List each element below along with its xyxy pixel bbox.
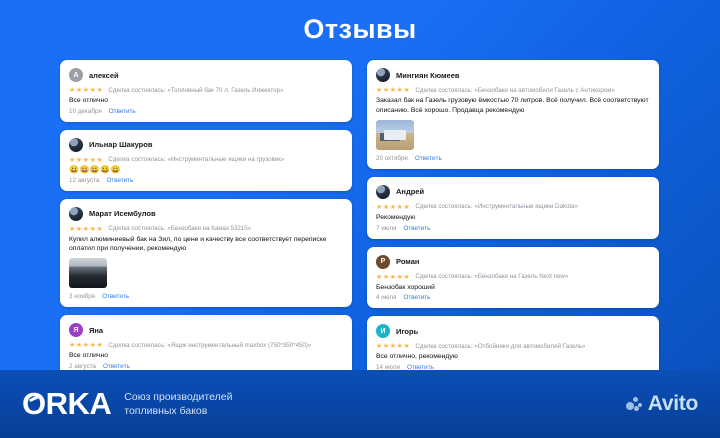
review-card: РРоман★★★★★Сделка состоялась: «Бензобаки… [367, 247, 659, 309]
review-emoji: 😀😀😀😀😀 [69, 166, 343, 175]
review-author-row: Андрей [376, 185, 650, 199]
review-date: 7 июля [376, 225, 396, 232]
reply-button[interactable]: Ответить [403, 294, 430, 301]
review-date: 12 августа [69, 177, 99, 184]
rating-stars: ★★★★★ [376, 203, 410, 211]
review-text: Рекомендую [376, 213, 650, 223]
review-author-row: ЯЯна [69, 323, 343, 337]
review-date: 10 декабря [69, 108, 102, 115]
page-header: Отзывы [0, 0, 720, 58]
reviews-column-left: Аалексей★★★★★Сделка состоялась: «Топливн… [60, 60, 352, 378]
reply-button[interactable]: Ответить [415, 155, 442, 162]
review-card: Ильнар Шакуров★★★★★Сделка состоялась: «И… [60, 130, 352, 191]
reply-button[interactable]: Ответить [109, 108, 136, 115]
reply-button[interactable]: Ответить [106, 177, 133, 184]
review-card: Мингиян Кюмеев★★★★★Сделка состоялась: «Б… [367, 60, 659, 169]
author-name: Роман [396, 257, 419, 266]
deal-item: «Топливный бак 70 л. Газель Инжектор» [167, 87, 283, 94]
review-text: Все отлично, рекомендую [376, 352, 650, 362]
deal-info: Сделка состоялась: «Бензобаки на автомоб… [415, 87, 615, 94]
avatar: Я [69, 323, 83, 337]
deal-info: Сделка состоялась: «Бензобаки на Газель … [415, 273, 568, 280]
tagline-line-2: топливных баков [124, 404, 232, 418]
deal-item: «Инструментальные ящики на грузовик» [167, 156, 284, 163]
review-meta: ★★★★★Сделка состоялась: «Бензобаки на Га… [376, 273, 650, 281]
deal-item: «Бензобаки на автомобили Газель с Антико… [474, 87, 615, 94]
avatar [376, 185, 390, 199]
rating-stars: ★★★★★ [376, 273, 410, 281]
logo-slash-mark [29, 395, 40, 402]
review-text: Купил алюминиевый бак на Зил, по цене и … [69, 235, 343, 255]
rating-stars: ★★★★★ [69, 156, 103, 164]
review-author-row: Мингиян Кюмеев [376, 68, 650, 82]
avito-wordmark: Avito [648, 392, 698, 416]
author-name: Мингиян Кюмеев [396, 71, 460, 80]
review-footer: 4 июляОтветить [376, 294, 650, 301]
review-photo[interactable] [69, 258, 107, 288]
review-card: ЯЯна★★★★★Сделка состоялась: «Ящик инстру… [60, 315, 352, 377]
author-name: Андрей [396, 187, 424, 196]
avatar [69, 138, 83, 152]
deal-prefix: Сделка состоялась: [415, 203, 472, 210]
rating-stars: ★★★★★ [376, 342, 410, 350]
deal-prefix: Сделка состоялась: [108, 87, 165, 94]
review-meta: ★★★★★Сделка состоялась: «Отбойники для а… [376, 342, 650, 350]
review-footer: 20 октябряОтветить [376, 155, 650, 162]
review-footer: 7 июляОтветить [376, 225, 650, 232]
review-card: Андрей★★★★★Сделка состоялась: «Инструмен… [367, 177, 659, 239]
author-name: Игорь [396, 327, 418, 336]
review-footer: 3 ноябряОтветить [69, 293, 343, 300]
brand-tagline: Союз производителей топливных баков [124, 390, 232, 418]
page-title: Отзывы [303, 14, 416, 45]
deal-info: Сделка состоялась: «Топливный бак 70 л. … [108, 87, 283, 94]
review-text: Бензобак хороший [376, 283, 650, 293]
review-meta: ★★★★★Сделка состоялась: «Топливный бак 7… [69, 86, 343, 94]
review-text: Все отлично [69, 96, 343, 106]
avatar [69, 207, 83, 221]
reviews-column-right: Мингиян Кюмеев★★★★★Сделка состоялась: «Б… [367, 60, 659, 378]
orka-wordmark: ORKA [22, 386, 111, 422]
deal-info: Сделка состоялась: «Бензобаки на Камаз 5… [108, 225, 251, 232]
review-date: 20 октября [376, 155, 408, 162]
deal-prefix: Сделка состоялась: [108, 156, 165, 163]
review-meta: ★★★★★Сделка состоялась: «Бензобаки на ав… [376, 86, 650, 94]
deal-info: Сделка состоялась: «Инструментальные ящи… [415, 203, 578, 210]
deal-prefix: Сделка состоялась: [415, 87, 472, 94]
review-author-row: Марат Исембулов [69, 207, 343, 221]
review-meta: ★★★★★Сделка состоялась: «Инструментальны… [69, 156, 343, 164]
author-name: Марат Исембулов [89, 209, 156, 218]
review-card: Аалексей★★★★★Сделка состоялась: «Топливн… [60, 60, 352, 122]
rating-stars: ★★★★★ [376, 86, 410, 94]
review-author-row: ИИгорь [376, 324, 650, 338]
deal-item: «Отбойники для автомобилей Газель» [474, 343, 585, 350]
deal-info: Сделка состоялась: «Отбойники для автомо… [415, 343, 585, 350]
deal-item: «Бензобаки на Камаз 53215» [167, 225, 251, 232]
review-meta: ★★★★★Сделка состоялась: «Ящик инструмент… [69, 341, 343, 349]
review-footer: 12 августаОтветить [69, 177, 343, 184]
avatar: И [376, 324, 390, 338]
review-meta: ★★★★★Сделка состоялась: «Бензобаки на Ка… [69, 225, 343, 233]
avito-dots-icon [626, 397, 643, 412]
reply-button[interactable]: Ответить [403, 225, 430, 232]
review-author-row: Аалексей [69, 68, 343, 82]
rating-stars: ★★★★★ [69, 86, 103, 94]
deal-prefix: Сделка состоялась: [108, 225, 165, 232]
deal-info: Сделка состоялась: «Инструментальные ящи… [108, 156, 284, 163]
author-name: Яна [89, 326, 103, 335]
deal-item: «Ящик инструментальный maxbox (750*350*4… [167, 342, 311, 349]
brand-logo: ORKA Союз производителей топливных баков [22, 386, 232, 422]
deal-info: Сделка состоялась: «Ящик инструментальны… [108, 342, 311, 349]
rating-stars: ★★★★★ [69, 341, 103, 349]
reviews-board: Аалексей★★★★★Сделка состоялась: «Топливн… [60, 60, 660, 378]
review-meta: ★★★★★Сделка состоялась: «Инструментальны… [376, 203, 650, 211]
page-footer: ORKA Союз производителей топливных баков… [0, 370, 720, 438]
avatar: Р [376, 255, 390, 269]
avito-logo: Avito [626, 392, 698, 416]
rating-stars: ★★★★★ [69, 225, 103, 233]
avatar: А [69, 68, 83, 82]
reply-button[interactable]: Ответить [102, 293, 129, 300]
deal-prefix: Сделка состоялась: [108, 342, 165, 349]
deal-item: «Бензобаки на Газель Next new» [474, 273, 568, 280]
review-author-row: РРоман [376, 255, 650, 269]
review-card: Марат Исембулов★★★★★Сделка состоялась: «… [60, 199, 352, 308]
deal-item: «Инструментальные ящики Dakota» [474, 203, 578, 210]
avatar [376, 68, 390, 82]
review-date: 3 ноября [69, 293, 95, 300]
review-date: 4 июля [376, 294, 396, 301]
author-name: Ильнар Шакуров [89, 140, 152, 149]
tagline-line-1: Союз производителей [124, 390, 232, 404]
review-photo[interactable] [376, 120, 414, 150]
review-text: Заказал бак на Газель грузовую ёмкостью … [376, 96, 650, 116]
author-name: алексей [89, 71, 119, 80]
deal-prefix: Сделка состоялась: [415, 273, 472, 280]
review-card: ИИгорь★★★★★Сделка состоялась: «Отбойники… [367, 316, 659, 378]
deal-prefix: Сделка состоялась: [415, 343, 472, 350]
review-text: Все отлично [69, 351, 343, 361]
review-footer: 10 декабряОтветить [69, 108, 343, 115]
review-author-row: Ильнар Шакуров [69, 138, 343, 152]
